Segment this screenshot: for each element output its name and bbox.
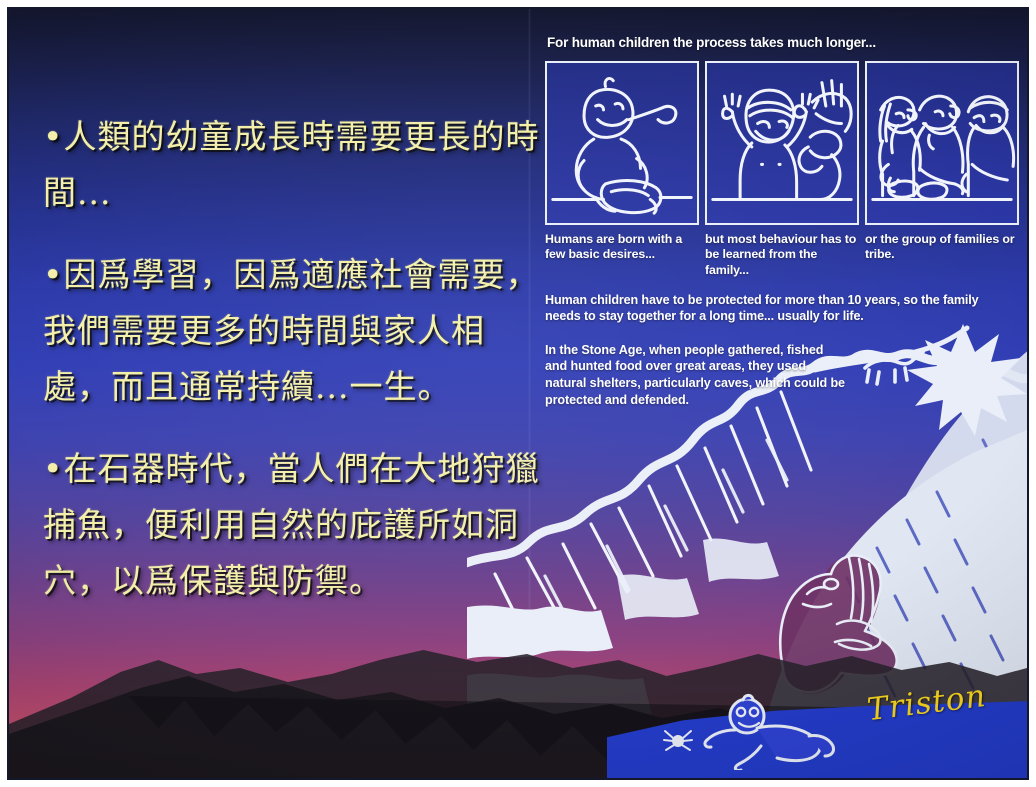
english-body-paragraph: Human children have to be protected for … — [545, 292, 1015, 324]
chinese-text-block: •人類的幼童成長時需要更長的時間... •因爲學習，因爲適應社會需要，我們需要更… — [43, 109, 543, 609]
slide-photo: •人類的幼童成長時需要更長的時間... •因爲學習，因爲適應社會需要，我們需要更… — [0, 0, 1036, 787]
english-text-block: For human children the process takes muc… — [545, 35, 1025, 409]
panel-caption-1: Humans are born with a few basic desires… — [545, 232, 699, 279]
chinese-bullet-1: •人類的幼童成長時需要更長的時間... — [43, 109, 543, 221]
chinese-bullet-3: •在石器時代，當人們在大地狩獵捕魚，便利用自然的庇護所如洞穴，以爲保護與防禦。 — [43, 441, 543, 609]
spider — [661, 726, 695, 754]
crawling-baby — [699, 690, 849, 770]
cartoon-panel-baby-eating — [545, 61, 699, 225]
panel-caption-3: or the group of families or tribe. — [865, 232, 1019, 279]
slide-canvas: •人類的幼童成長時需要更長的時間... •因爲學習，因爲適應社會需要，我們需要更… — [7, 7, 1029, 780]
chinese-bullet-2: •因爲學習，因爲適應社會需要，我們需要更多的時間與家人相處，而且通常持續...一… — [43, 247, 543, 415]
english-stone-age-paragraph: In the Stone Age, when people gathered, … — [545, 342, 845, 409]
cartoon-panel-family-group — [865, 61, 1019, 225]
english-heading: For human children the process takes muc… — [547, 35, 1025, 52]
panel-captions: Humans are born with a few basic desires… — [545, 232, 1025, 279]
panel-caption-2: but most behaviour has to be learned fro… — [705, 232, 859, 279]
cartoon-panel-strip — [545, 61, 1025, 225]
cartoon-panel-child-learning — [705, 61, 859, 225]
